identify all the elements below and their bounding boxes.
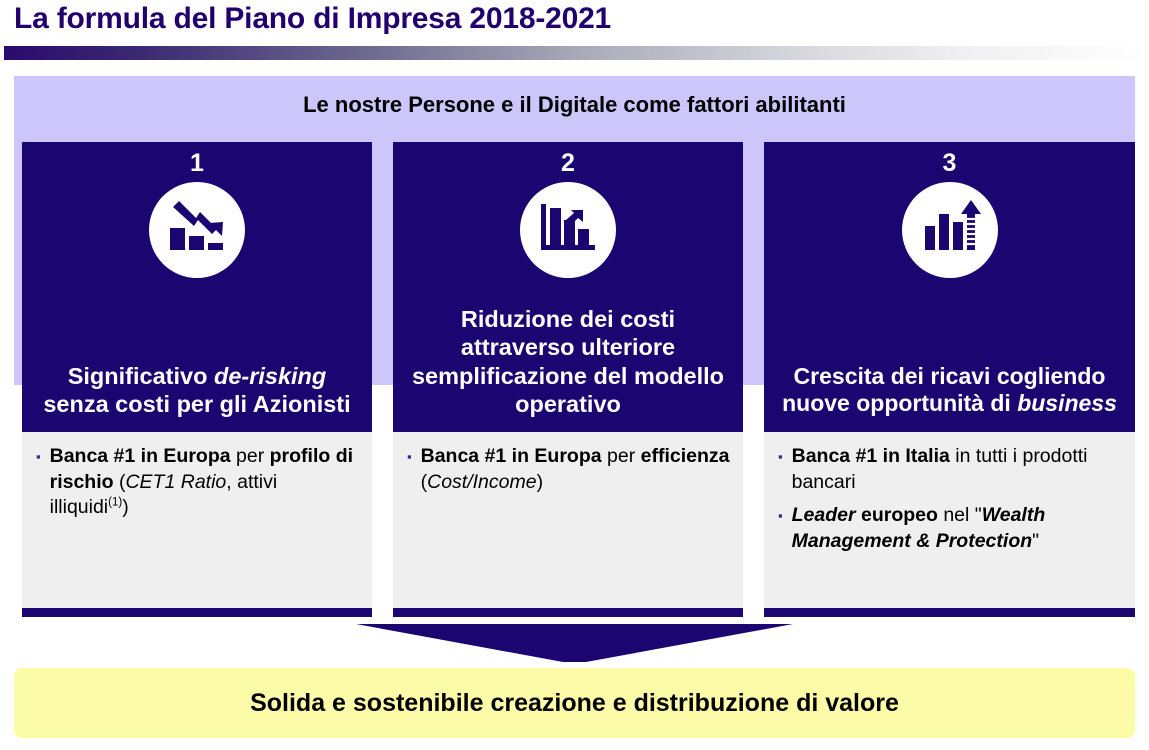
title-gradient-rule <box>4 46 1145 60</box>
pillar-heading-3: Crescita dei ricavi cogliendo nuove oppo… <box>774 363 1125 418</box>
value-banner-text: Solida e sostenibile creazione e distrib… <box>250 689 899 718</box>
pillar-heading-1: Significativo de-risking senza costi per… <box>32 362 362 418</box>
bullet-square-icon: ▪ <box>407 444 412 470</box>
down-arrow-icon <box>356 624 793 662</box>
pillar-footer-bar-3 <box>764 608 1135 617</box>
declining-bar-chart-arrow-down-icon <box>166 198 228 261</box>
pillar-footer-bar-1 <box>22 608 372 617</box>
value-banner: Solida e sostenibile creazione e distrib… <box>14 668 1135 738</box>
growing-bar-chart-arrow-up-icon <box>919 198 981 261</box>
enabler-band-title: Le nostre Persone e il Digitale come fat… <box>14 92 1135 118</box>
pillar-column-1: 1 Significativo de-risking senza costi p… <box>22 142 372 617</box>
pillar-footer-bar-2 <box>393 608 743 617</box>
pillar-column-2: 2 Riduzione dei costi attraverso ulterio… <box>393 142 743 617</box>
bullet-square-icon: ▪ <box>778 444 783 470</box>
pillar-icon-circle-1 <box>149 182 245 278</box>
pillar-number-3: 3 <box>943 150 957 178</box>
pillar-panel-3: 3 <box>764 142 1135 432</box>
pillar-bullets-2: ▪ Banca #1 in Europa per efficienza (Cos… <box>393 432 743 608</box>
bullet-text: Banca #1 in Europa per efficienza (Cost/… <box>421 444 731 495</box>
decreasing-bar-chart-arrow-icon <box>537 198 599 261</box>
pillar-heading-1-emphasis: de-risking <box>214 363 326 389</box>
pillar-panel-1: 1 Significativo de-risking senza costi p… <box>22 142 372 432</box>
pillar-heading-2: Riduzione dei costi attraverso ulteriore… <box>403 305 733 418</box>
pillar-bullets-1: ▪ Banca #1 in Europa per profilo di risc… <box>22 432 372 608</box>
pillar-panel-2: 2 Riduzione dei costi attraverso ulterio… <box>393 142 743 432</box>
pillar-heading-3-emphasis: business <box>1017 390 1117 416</box>
bullet-square-icon: ▪ <box>778 503 783 529</box>
list-item: ▪ Banca #1 in Italia in tutti i prodotti… <box>778 444 1123 495</box>
list-item: ▪ Banca #1 in Europa per profilo di risc… <box>36 444 360 521</box>
bullet-text: Banca #1 in Europa per profilo di rischi… <box>50 444 360 521</box>
pillar-icon-circle-3 <box>902 182 998 278</box>
pillar-bullets-3: ▪ Banca #1 in Italia in tutti i prodotti… <box>764 432 1135 608</box>
pillar-icon-circle-2 <box>520 182 616 278</box>
list-item: ▪ Leader europeo nel "Wealth Management … <box>778 503 1123 554</box>
bullet-text: Banca #1 in Italia in tutti i prodotti b… <box>792 444 1123 495</box>
pillar-column-3: 3 <box>764 142 1135 617</box>
bullet-square-icon: ▪ <box>36 444 41 470</box>
list-item: ▪ Banca #1 in Europa per efficienza (Cos… <box>407 444 731 495</box>
pillar-number-2: 2 <box>561 150 575 178</box>
page-title: La formula del Piano di Impresa 2018-202… <box>14 2 611 36</box>
bullet-text: Leader europeo nel "Wealth Management & … <box>792 503 1123 554</box>
pillar-number-1: 1 <box>190 150 204 178</box>
